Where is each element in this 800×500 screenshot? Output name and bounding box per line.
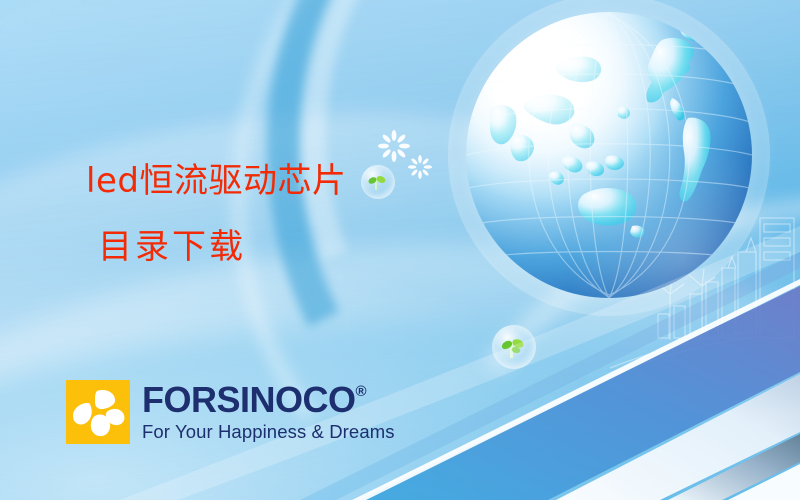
bubble-green-sprout-upper <box>361 165 395 199</box>
headline-line-2: 目录下载 <box>98 230 346 264</box>
brand-name: FORSINOCO ® <box>142 382 395 418</box>
flower-petals-icon <box>66 380 130 444</box>
bubble-green-sprout-lower <box>492 325 536 369</box>
brand-name-text: FORSINOCO <box>142 382 356 418</box>
headline-line-1: led恒流驱动芯片 <box>86 164 346 198</box>
earth-globe <box>466 12 752 298</box>
promo-banner: led恒流驱动芯片 目录下载 FORSINOCO ® For Your Happ… <box>0 0 800 500</box>
brand-tagline: For Your Happiness & Dreams <box>142 423 395 442</box>
green-sprout-icon <box>361 165 395 199</box>
headline: led恒流驱动芯片 目录下载 <box>86 164 346 264</box>
company-logo[interactable]: FORSINOCO ® For Your Happiness & Dreams <box>66 380 395 444</box>
green-sprout-icon <box>492 325 536 369</box>
forsinoco-flower-mark-icon <box>66 380 130 444</box>
registered-trademark-icon: ® <box>356 384 367 399</box>
globe-grid-lines <box>466 12 752 298</box>
logo-wordmark: FORSINOCO ® For Your Happiness & Dreams <box>142 382 395 442</box>
